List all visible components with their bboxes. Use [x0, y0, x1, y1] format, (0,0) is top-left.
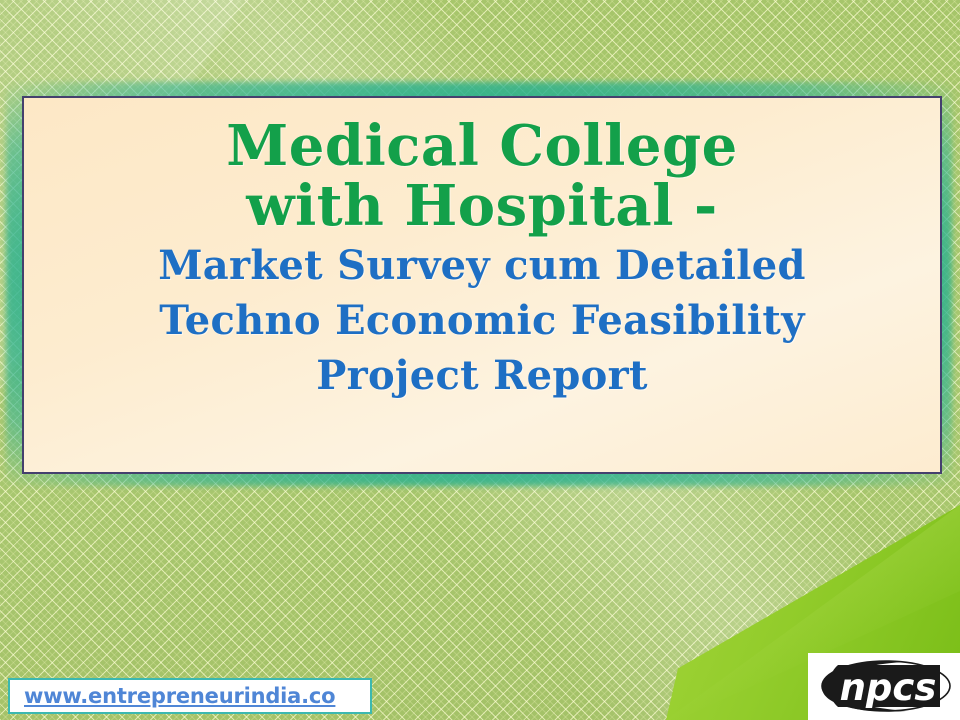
npcs-wordmark: npcs: [840, 666, 937, 709]
title-line-2: with Hospital -: [246, 174, 717, 238]
subtitle-line-3: Project Report: [316, 348, 648, 403]
website-url-box[interactable]: www.entrepreneurindia.co: [8, 678, 372, 714]
subtitle-line-1: Market Survey cum Detailed: [158, 238, 806, 293]
title-card: Medical College with Hospital - Market S…: [22, 96, 942, 474]
npcs-logo: npcs npcs: [808, 653, 960, 720]
presentation-slide: Medical College with Hospital - Market S…: [0, 0, 960, 720]
title-line-1: Medical College: [226, 114, 738, 178]
npcs-logo-icon: npcs: [808, 653, 960, 720]
website-url-link[interactable]: www.entrepreneurindia.co: [24, 684, 335, 708]
subtitle-line-2: Techno Economic Feasibility: [159, 293, 805, 348]
